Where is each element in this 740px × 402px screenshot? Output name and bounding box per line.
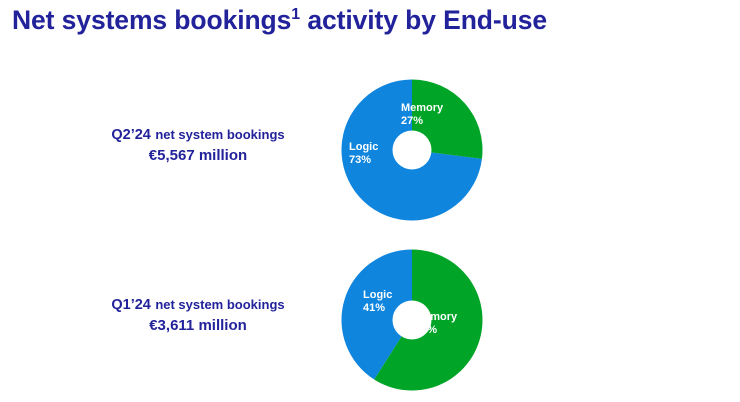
donut-label-logic-q1-name: Logic — [363, 289, 392, 301]
caption-q1-bookings: Q1’24 net system bookings €3,611 million — [48, 294, 348, 336]
caption-q1-quarter: Q1’24 — [111, 297, 151, 313]
page-title-footnote-marker: 1 — [291, 6, 300, 23]
donut-label-logic-q2-name: Logic — [349, 141, 378, 153]
donut-label-memory-q2-name: Memory — [401, 102, 443, 114]
caption-q1-description: net system bookings — [155, 297, 284, 312]
caption-q1-line1: Q1’24 net system bookings — [48, 294, 348, 316]
page-title: Net systems bookings1 activity by End-us… — [12, 5, 728, 35]
caption-q2-amount: €5,567 million — [48, 146, 348, 166]
caption-q2-bookings: Q2’24 net system bookings €5,567 million — [48, 124, 348, 166]
donut-label-logic-q2-pct: 73% — [349, 154, 378, 167]
caption-q1-amount: €3,611 million — [48, 316, 348, 336]
page-title-main: Net systems bookings — [12, 5, 291, 35]
donut-label-memory-q2: Memory 27% — [401, 102, 443, 128]
caption-q2-line1: Q2’24 net system bookings — [48, 124, 348, 146]
donut-label-memory-q1-name: Memory — [415, 311, 457, 323]
caption-q2-quarter: Q2’24 — [111, 127, 151, 143]
donut-label-memory-q1-pct: 59% — [415, 324, 457, 337]
donut-chart-q1: Logic 41% Memory 59% — [341, 249, 483, 391]
donut-label-logic-q1: Logic 41% — [363, 289, 392, 315]
donut-chart-q2: Memory 27% Logic 73% — [341, 79, 483, 221]
donut-chart-q1-svg — [341, 249, 483, 391]
caption-q2-description: net system bookings — [155, 127, 284, 142]
donut-label-logic-q1-pct: 41% — [363, 302, 392, 315]
donut-center-hole-q2 — [393, 131, 432, 170]
donut-label-memory-q2-pct: 27% — [401, 115, 443, 128]
donut-label-memory-q1: Memory 59% — [415, 311, 457, 337]
page-title-tail: activity by End-use — [300, 5, 547, 35]
donut-label-logic-q2: Logic 73% — [349, 141, 378, 167]
